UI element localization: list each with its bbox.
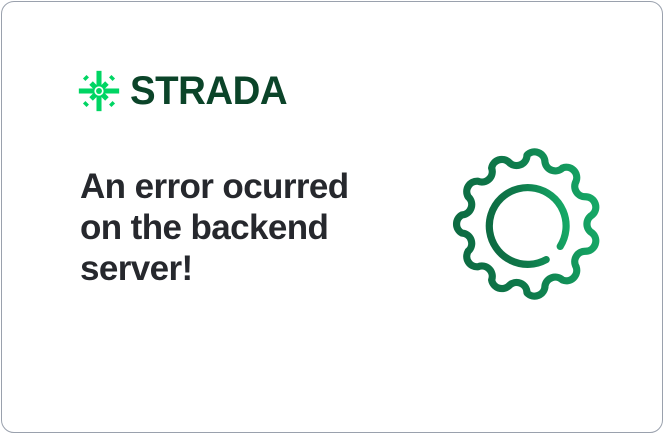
error-card: STRADA An error ocurred on the backend s… (1, 1, 663, 433)
strada-asterisk-icon (78, 70, 120, 112)
brand-wordmark: STRADA (130, 71, 287, 111)
error-message: An error ocurred on the backend server! (80, 166, 380, 289)
brand-lockup: STRADA (78, 70, 294, 112)
gear-icon (446, 144, 608, 304)
